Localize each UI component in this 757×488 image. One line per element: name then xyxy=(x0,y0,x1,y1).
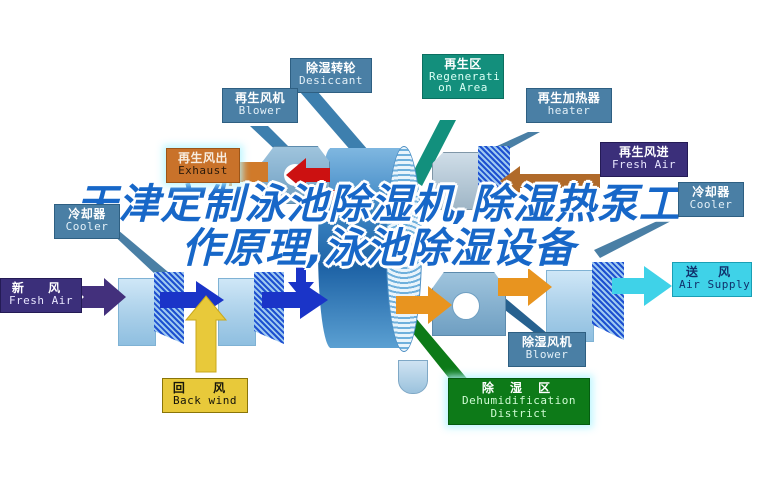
label-dehumidification-blower: 除湿风机 Blower xyxy=(508,332,586,367)
regeneration-blower-inlet xyxy=(284,164,306,186)
label-cooler-left: 冷却器 Cooler xyxy=(54,204,120,239)
label-dehumidification-district: 除 湿 区 Dehumidification District xyxy=(448,378,590,425)
label-regeneration-fresh-air-cn: 再生风进 xyxy=(607,146,681,159)
label-dehumidification-district-cn: 除 湿 区 xyxy=(455,382,583,395)
arrow-down-to-coil xyxy=(288,256,314,298)
cooler-coil-1-fins xyxy=(154,272,184,344)
label-back-wind-cn: 回 风 xyxy=(169,382,241,395)
label-cooler-right: 冷却器 Cooler xyxy=(678,182,744,217)
label-fresh-air: 新 风 Fresh Air xyxy=(0,278,82,313)
arrow-regen-in xyxy=(500,166,600,196)
regeneration-heater-block xyxy=(432,152,480,210)
label-regeneration-blower-en: Blower xyxy=(229,105,291,117)
label-regeneration-heater-cn: 再生加热器 xyxy=(533,92,605,105)
label-regeneration-blower: 再生风机 Blower xyxy=(222,88,298,123)
label-air-supply: 送 风 Air Supply xyxy=(672,262,752,297)
diagram-canvas: 天津定制泳池除湿机,除湿热泵工作原理,泳池除湿设备 除湿转轮 Desiccant… xyxy=(0,0,757,488)
cooler-coil-2-fins xyxy=(254,272,284,344)
label-regeneration-area-cn: 再生区 xyxy=(429,58,497,71)
cooler-coil-2 xyxy=(218,278,256,346)
label-regeneration-area-en: Regenerati on Area xyxy=(429,71,497,94)
label-fresh-air-en: Fresh Air xyxy=(7,295,75,307)
label-cooler-right-cn: 冷却器 xyxy=(685,186,737,199)
label-regeneration-area: 再生区 Regenerati on Area xyxy=(422,54,504,99)
label-air-supply-cn: 送 风 xyxy=(679,266,745,279)
regeneration-heater-fins xyxy=(478,146,510,208)
label-dehumidification-blower-en: Blower xyxy=(515,349,579,361)
label-exhaust-en: Exhaust xyxy=(173,165,233,177)
label-desiccant-cn: 除湿转轮 xyxy=(297,62,365,75)
label-regeneration-heater-en: heater xyxy=(533,105,605,117)
label-regeneration-fresh-air: 再生风进 Fresh Air xyxy=(600,142,688,177)
label-air-supply-en: Air Supply xyxy=(679,279,745,291)
cooler-coil-1 xyxy=(118,278,156,346)
label-regeneration-fresh-air-en: Fresh Air xyxy=(607,159,681,171)
dehumidification-blower-inlet xyxy=(452,292,480,320)
label-desiccant: 除湿转轮 Desiccant xyxy=(290,58,372,93)
arrow-blower-out xyxy=(498,268,552,306)
label-regeneration-heater: 再生加热器 heater xyxy=(526,88,612,123)
desiccant-wheel-face xyxy=(386,146,422,352)
label-desiccant-en: Desiccant xyxy=(297,75,365,87)
label-dehumidification-district-en: Dehumidification District xyxy=(455,395,583,420)
label-exhaust: 再生风出 Exhaust xyxy=(166,148,240,183)
label-cooler-left-cn: 冷却器 xyxy=(61,208,113,221)
label-regeneration-blower-cn: 再生风机 xyxy=(229,92,291,105)
desiccant-wheel-drip xyxy=(398,360,428,394)
label-dehumidification-blower-cn: 除湿风机 xyxy=(515,336,579,349)
label-cooler-right-en: Cooler xyxy=(685,199,737,211)
label-fresh-air-cn: 新 风 xyxy=(7,282,75,295)
label-back-wind-en: Back wind xyxy=(169,395,241,407)
supply-coil-fins xyxy=(592,262,624,340)
label-exhaust-cn: 再生风出 xyxy=(173,152,233,165)
label-back-wind: 回 风 Back wind xyxy=(162,378,248,413)
label-cooler-left-en: Cooler xyxy=(61,221,113,233)
